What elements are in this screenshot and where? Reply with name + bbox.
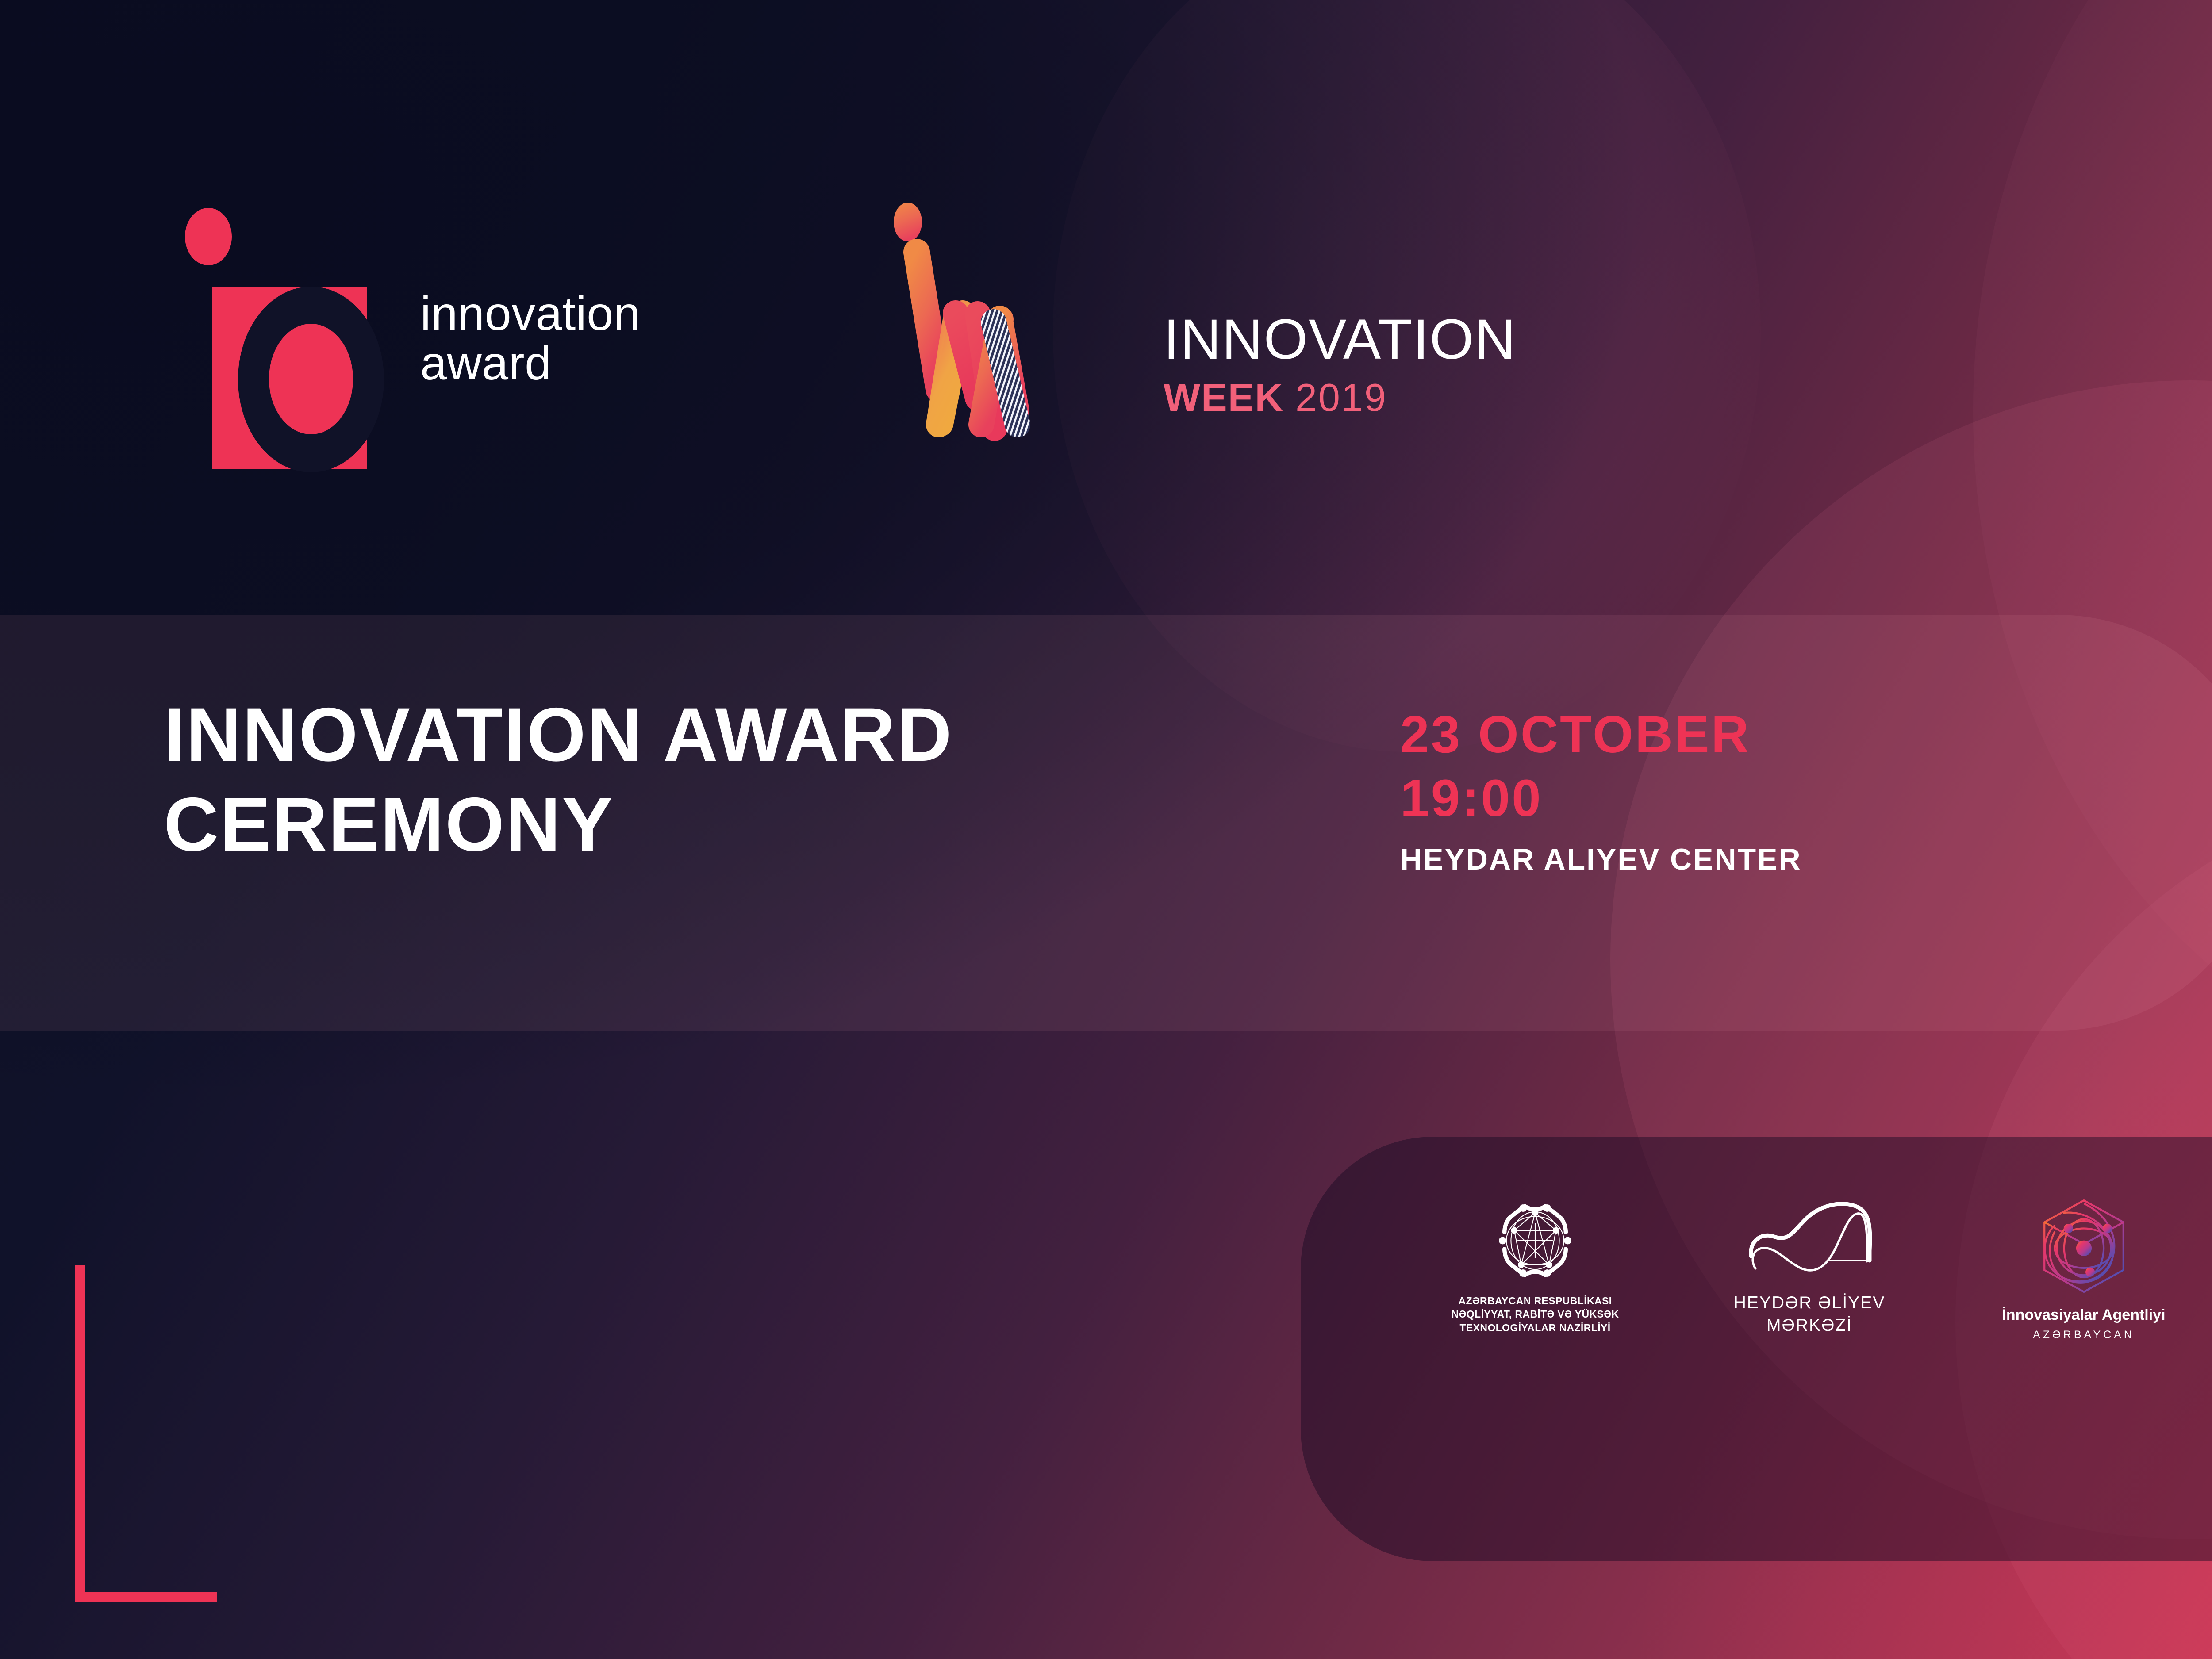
hac-caption-line-2: MƏRKƏZİ bbox=[1734, 1314, 1886, 1337]
heydar-aliyev-center-curve-icon bbox=[1743, 1194, 1876, 1285]
event-time: 19:00 bbox=[1400, 767, 1802, 831]
ministry-caption-line-3: TEXNOLOGİYALAR NAZİRLİYİ bbox=[1452, 1321, 1619, 1334]
innovation-award-wordmark: innovation award bbox=[420, 289, 640, 388]
bracket-vertical-line bbox=[75, 1265, 85, 1602]
innovation-week-word: WEEK bbox=[1164, 375, 1284, 420]
sponsor-ministry: AZƏRBAYCAN RESPUBLİKASI NƏQLİYYAT, RABİT… bbox=[1394, 1194, 1677, 1334]
headline-line-2: CEREMONY bbox=[164, 780, 953, 870]
innovation-award-line1: innovation bbox=[420, 289, 640, 338]
logo-dot-shape bbox=[185, 208, 232, 265]
heydar-aliyev-center-caption: HEYDƏR ƏLİYEV MƏRKƏZİ bbox=[1734, 1292, 1886, 1337]
logo-inner-circle-shape bbox=[269, 324, 353, 434]
innovation-week-line2: WEEK 2019 bbox=[1164, 375, 1517, 420]
iw-monogram-svg bbox=[889, 203, 1146, 451]
innovation-agency-cube-icon bbox=[2032, 1194, 2136, 1298]
sponsor-logo-row: AZƏRBAYCAN RESPUBLİKASI NƏQLİYYAT, RABİT… bbox=[1394, 1194, 2212, 1486]
innovation-week-wordmark: INNOVATION WEEK 2019 bbox=[1164, 311, 1517, 451]
innovation-award-logo: innovation award bbox=[173, 208, 640, 469]
innovation-week-logo: INNOVATION WEEK 2019 bbox=[889, 203, 1517, 451]
page-title: INNOVATION AWARD CEREMONY bbox=[164, 690, 953, 870]
innovation-award-mark-icon bbox=[173, 208, 332, 469]
innovation-award-line2: award bbox=[420, 338, 640, 388]
event-venue: HEYDAR ALIYEV CENTER bbox=[1400, 842, 1802, 877]
hac-caption-line-1: HEYDƏR ƏLİYEV bbox=[1734, 1292, 1886, 1314]
agency-caption-line-1: İnnovasiyalar Agentliyi bbox=[2002, 1305, 2165, 1325]
innovation-week-mark-icon bbox=[889, 203, 1146, 451]
innovation-agency-caption: İnnovasiyalar Agentliyi AZƏRBAYCAN bbox=[2002, 1305, 2165, 1342]
sponsor-heydar-aliyev-center: HEYDƏR ƏLİYEV MƏRKƏZİ bbox=[1677, 1194, 1942, 1337]
event-banner: innovation award bbox=[0, 0, 2212, 1659]
ministry-caption: AZƏRBAYCAN RESPUBLİKASI NƏQLİYYAT, RABİT… bbox=[1452, 1294, 1619, 1334]
event-date: 23 OCTOBER bbox=[1400, 703, 1802, 767]
ministry-mandala-icon bbox=[1489, 1194, 1582, 1287]
event-details: 23 OCTOBER 19:00 HEYDAR ALIYEV CENTER bbox=[1400, 703, 1802, 877]
bracket-horizontal-line bbox=[75, 1592, 217, 1602]
corner-bracket-bottom-left bbox=[75, 1265, 217, 1602]
innovation-week-year: 2019 bbox=[1295, 375, 1387, 420]
agency-caption-line-2: AZƏRBAYCAN bbox=[2002, 1328, 2165, 1342]
innovation-week-line1: INNOVATION bbox=[1164, 311, 1517, 368]
ministry-caption-line-2: NƏQLİYYAT, RABİTƏ VƏ YÜKSƏK bbox=[1452, 1307, 1619, 1321]
sponsor-innovation-agency: İnnovasiyalar Agentliyi AZƏRBAYCAN bbox=[1942, 1194, 2212, 1342]
headline-line-1: INNOVATION AWARD bbox=[164, 690, 953, 780]
ministry-caption-line-1: AZƏRBAYCAN RESPUBLİKASI bbox=[1452, 1294, 1619, 1307]
